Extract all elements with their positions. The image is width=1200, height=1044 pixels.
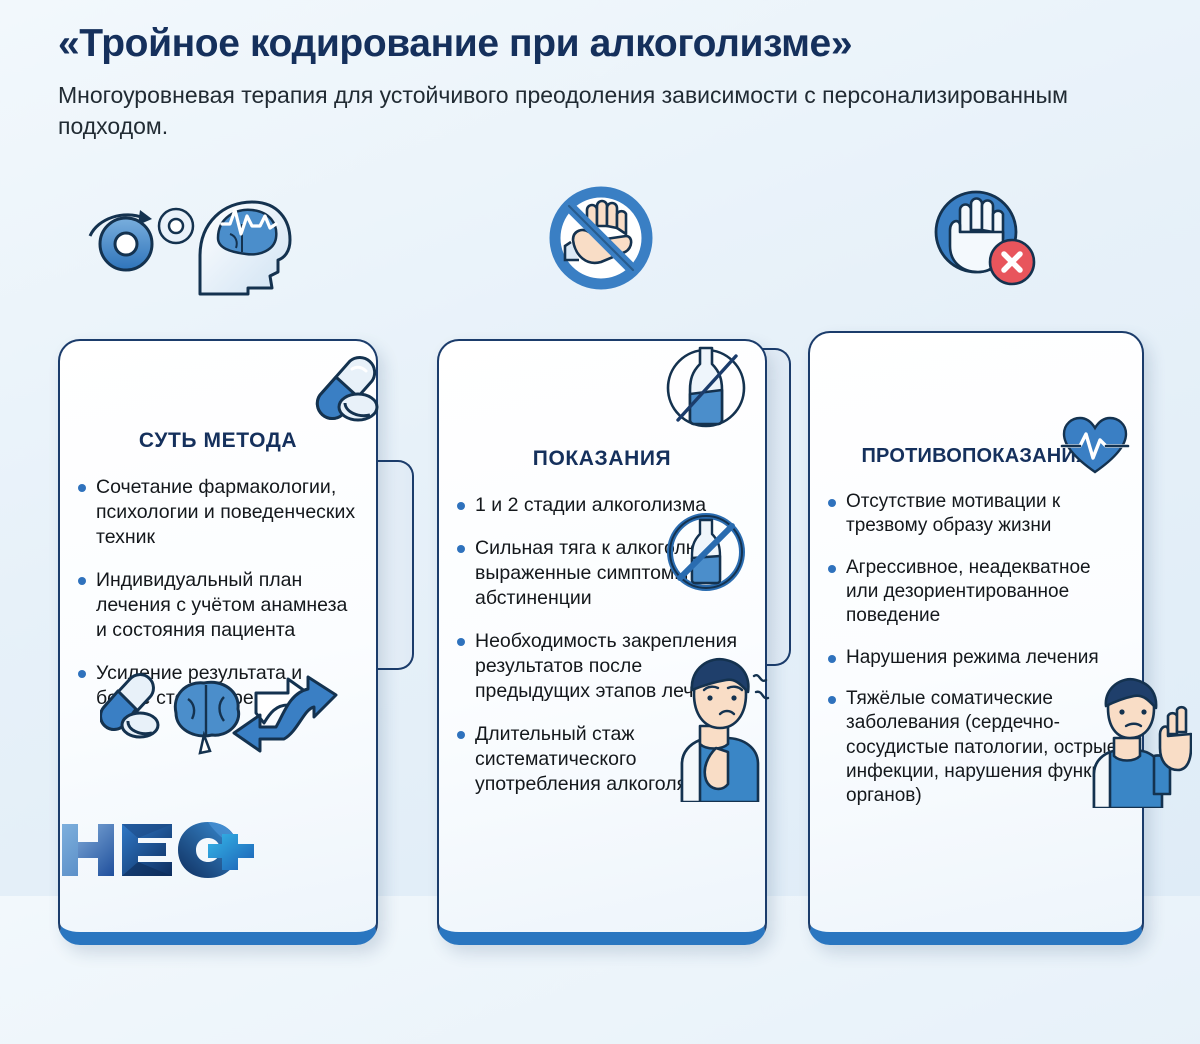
list-item: Отсутствие мотивации к трезвому образу ж…	[826, 490, 1126, 539]
list-item: Тяжёлые соматические заболевания (сердеч…	[826, 687, 1126, 809]
no-bottle-icon	[660, 340, 752, 432]
page-title: «Тройное кодирование при алкоголизме»	[58, 22, 1200, 66]
infographic-page: «Тройное кодирование при алкоголизме» Мн…	[0, 0, 1200, 896]
brain-icon	[175, 682, 238, 753]
bullet-list-contraindications: Отсутствие мотивации к трезвому образу ж…	[826, 490, 1126, 808]
stop-hand-prohibited-icon	[543, 182, 659, 294]
gears-head-brain-pulse-icon	[72, 194, 294, 299]
shuffle-arrows-icon	[234, 677, 336, 751]
no-bottle-icon	[662, 508, 750, 596]
worried-man-icon	[664, 652, 774, 802]
decor-trio-icons	[100, 665, 338, 763]
hand-stop-red-cross-icon	[928, 186, 1036, 292]
card-title-indications: ПОКАЗАНИЯ	[455, 447, 749, 471]
card-title-essence: СУТЬ МЕТОДА	[76, 429, 360, 453]
page-subtitle: Многоуровневая терапия для устойчивого п…	[58, 80, 1148, 141]
neo-plus-logo[interactable]	[58, 820, 268, 887]
heart-pulse-icon	[1060, 414, 1130, 478]
capsule-tablet-icon	[300, 345, 386, 425]
man-raised-hand-icon	[1088, 676, 1192, 808]
list-item: Индивидуальный план лечения с учётом ана…	[76, 568, 360, 643]
list-item: Нарушения режима лечения	[826, 646, 1126, 670]
list-item: Сочетание фармакологии, психологии и пов…	[76, 475, 360, 550]
capsule-tablet-icon	[101, 675, 158, 737]
list-item: Агрессивное, неадекватное или дезориенти…	[826, 556, 1126, 629]
header: «Тройное кодирование при алкоголизме» Мн…	[0, 0, 1200, 141]
